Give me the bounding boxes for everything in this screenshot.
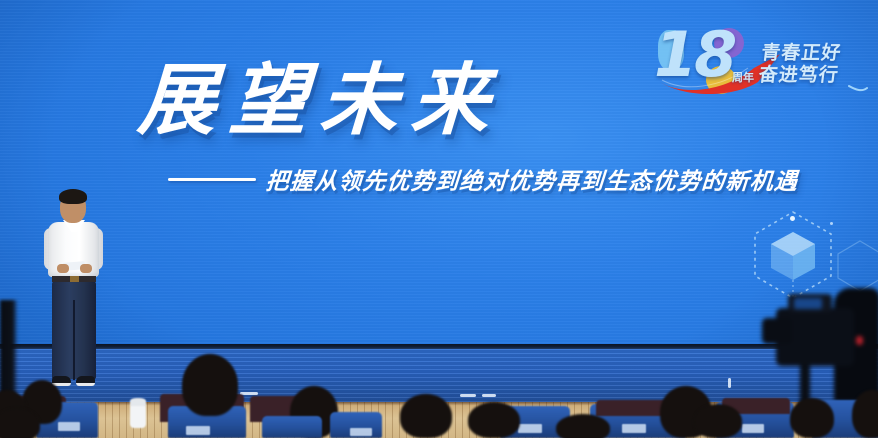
speaker-belt-buckle	[70, 276, 79, 282]
water-cup	[130, 404, 146, 428]
speaker-right-hand	[80, 264, 92, 273]
camera-record-light	[856, 336, 863, 345]
slide-subtitle-row: 把握从领先优势到绝对优势再到生态优势的新机遇	[168, 162, 878, 196]
seat-back	[262, 416, 322, 438]
seat-label	[518, 424, 542, 433]
audience-head	[790, 398, 834, 438]
cup-lid	[130, 398, 146, 406]
seat-label	[186, 426, 210, 435]
logo-tail-flourish-icon	[848, 84, 868, 98]
slide-subtitle: 把握从领先优势到绝对优势再到生态优势的新机遇	[265, 162, 800, 196]
motif-dot-large	[790, 216, 795, 221]
seat-label	[58, 422, 80, 431]
audience-head	[556, 414, 610, 438]
logo-slogan-line-2: 奋进笃行	[757, 64, 840, 86]
camera-monitor-screen	[794, 298, 822, 309]
audience-head	[400, 394, 452, 438]
seat-label	[350, 428, 372, 436]
motif-dot-small	[830, 222, 833, 225]
speaker-hair	[59, 189, 87, 204]
subtitle-rule-divider	[168, 178, 256, 181]
logo-slogan-line-1: 青春正好	[760, 42, 843, 64]
speaker-left-hand	[57, 264, 69, 273]
audience-head	[468, 402, 520, 438]
logo-anniversary-unit: 周年	[732, 72, 754, 84]
audience-head	[182, 354, 238, 416]
audience-silhouettes	[0, 360, 878, 438]
seat-label	[742, 424, 764, 433]
audience-head	[694, 404, 742, 438]
seat-label	[622, 424, 646, 433]
logo-slogan: 青春正好 奋进笃行	[757, 42, 843, 87]
camera-lens	[762, 318, 792, 344]
audience-head	[852, 390, 878, 438]
anniversary-logo: 18 周年 青春正好 奋进笃行	[652, 22, 868, 106]
stage-presentation-photo: 展望未来 把握从领先优势到绝对优势再到生态优势的新机遇 18 周年 青春正好 奋…	[0, 0, 878, 438]
